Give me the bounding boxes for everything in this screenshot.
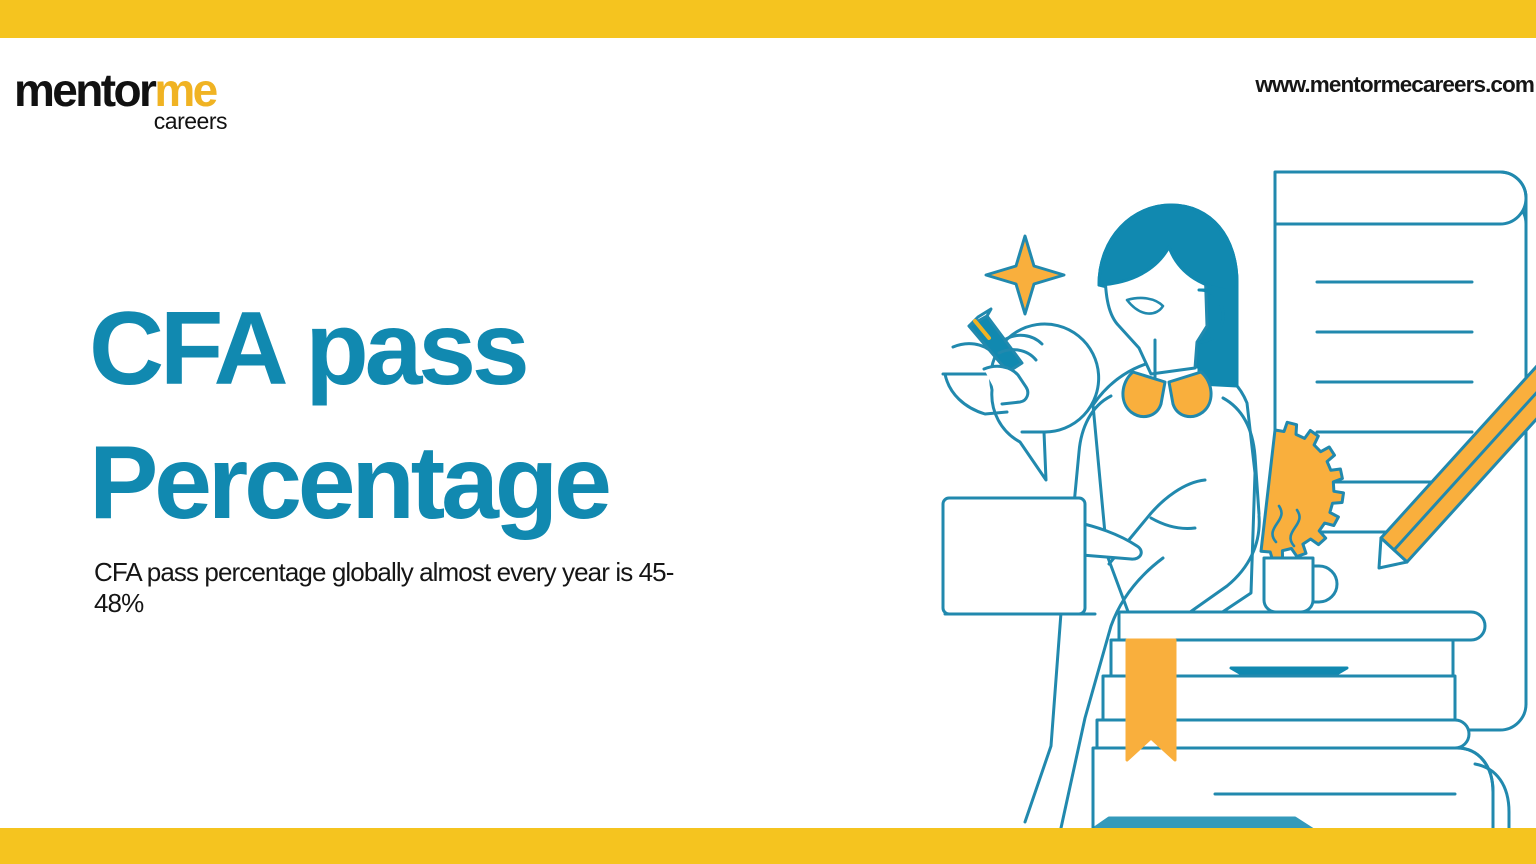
sparkle-star-icon bbox=[986, 236, 1064, 314]
page-title: CFA pass Percentage bbox=[89, 282, 789, 550]
speech-bubble-hand-pen-icon bbox=[943, 309, 1099, 480]
book-stack-icon bbox=[1083, 612, 1509, 840]
laptop-icon bbox=[943, 498, 1095, 614]
subtitle-text: CFA pass percentage globally almost ever… bbox=[94, 557, 694, 619]
headline-line-1: CFA pass bbox=[89, 282, 789, 416]
website-url[interactable]: www.mentormecareers.com bbox=[1255, 72, 1534, 98]
hero-illustration bbox=[915, 150, 1536, 840]
logo-word-one: mentor bbox=[14, 64, 154, 116]
logo-wordmark: mentorme bbox=[14, 68, 229, 112]
top-accent-bar bbox=[0, 0, 1536, 38]
slide-root: mentorme careers www.mentormecareers.com… bbox=[0, 0, 1536, 864]
bottom-accent-bar bbox=[0, 828, 1536, 864]
brand-logo[interactable]: mentorme careers bbox=[14, 68, 229, 130]
illustration-svg bbox=[915, 150, 1536, 840]
headline-line-2: Percentage bbox=[89, 416, 789, 550]
